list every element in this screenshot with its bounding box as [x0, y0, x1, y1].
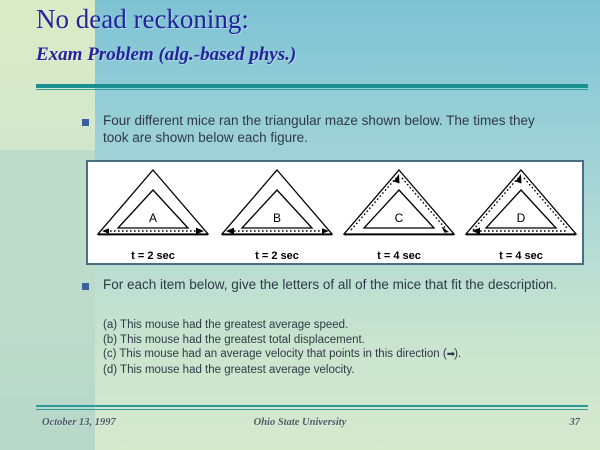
slide-subtitle: Exam Problem (alg.-based phys.)	[36, 44, 296, 66]
maze-time-b: t = 2 sec	[216, 250, 338, 262]
maze-letter-c: C	[395, 211, 404, 225]
header-divider-thin	[36, 89, 588, 90]
bullet-square-icon	[82, 283, 89, 290]
subitem-c: (c) This mouse had an average velocity t…	[103, 347, 573, 363]
subitem-a: (a) This mouse had the greatest average …	[103, 318, 573, 333]
maze-figure-b: B t = 2 sec	[216, 164, 338, 265]
header-divider	[36, 84, 588, 88]
maze-figure-box: A t = 2 sec B t = 2 sec	[86, 160, 584, 265]
subitem-list: (a) This mouse had the greatest average …	[103, 318, 573, 377]
footer-page-number: 37	[0, 417, 580, 428]
maze-letter-d: D	[517, 211, 526, 225]
maze-time-c: t = 4 sec	[338, 250, 460, 262]
subitem-c-suffix: ).	[454, 348, 461, 360]
maze-time-d: t = 4 sec	[460, 250, 582, 262]
maze-figure-a: A t = 2 sec	[92, 164, 214, 265]
maze-time-a: t = 2 sec	[92, 250, 214, 262]
bullet-item-2: For each item below, give the letters of…	[82, 276, 572, 293]
bullet-square-icon	[82, 119, 89, 126]
subitem-b: (b) This mouse had the greatest total di…	[103, 333, 573, 348]
slide: No dead reckoning: Exam Problem (alg.-ba…	[0, 0, 600, 450]
bullet-item-1: Four different mice ran the triangular m…	[82, 112, 562, 146]
direction-arrow-icon: ➡	[447, 349, 454, 360]
bullet-item-2-label: For each item below, give the letters of…	[103, 276, 557, 293]
maze-figure-d: D t = 4 sec	[460, 164, 582, 265]
maze-letter-b: B	[273, 211, 281, 225]
slide-title: No dead reckoning:	[36, 4, 249, 35]
footer-divider	[36, 405, 588, 407]
bullet-item-1-label: Four different mice ran the triangular m…	[103, 112, 562, 146]
subitem-c-label: (c) This mouse had an average velocity t…	[103, 348, 447, 360]
maze-figure-c: C t = 4 sec	[338, 164, 460, 265]
footer-divider-thin	[36, 409, 588, 410]
maze-letter-a: A	[149, 211, 157, 225]
subitem-d: (d) This mouse had the greatest average …	[103, 363, 573, 378]
